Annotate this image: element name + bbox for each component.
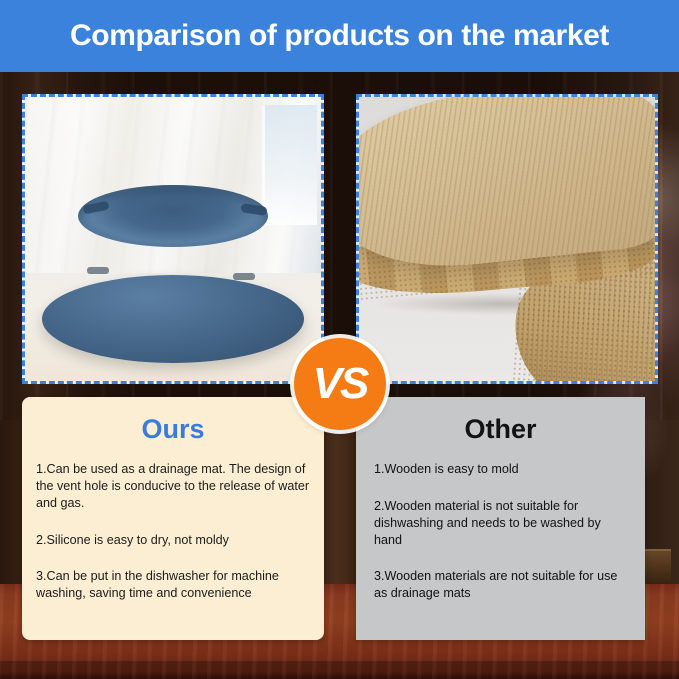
feature-list-other: 1.Wooden is easy to mold 2.Wooden materi…	[370, 461, 631, 601]
comparison-infographic: Comparison of products on the market	[0, 0, 679, 679]
feature-item: 1.Can be used as a drainage mat. The des…	[36, 461, 310, 511]
vs-badge-label: VS	[313, 362, 368, 406]
feature-item: 2.Wooden material is not suitable for di…	[374, 498, 631, 548]
silicone-vent-hole-left	[87, 267, 109, 274]
window-pane	[262, 105, 317, 225]
header-banner: Comparison of products on the market	[0, 0, 679, 72]
card-title-other: Other	[370, 415, 631, 443]
vs-badge: VS	[294, 338, 386, 430]
comparison-card-ours: Ours 1.Can be used as a drainage mat. Th…	[22, 397, 324, 640]
feature-item: 1.Wooden is easy to mold	[374, 461, 631, 478]
comparison-card-other: Other 1.Wooden is easy to mold 2.Wooden …	[356, 397, 645, 640]
silicone-tray-image	[25, 97, 321, 381]
background-table-edge	[0, 661, 679, 679]
product-photo-other	[356, 94, 658, 384]
feature-item: 3.Wooden materials are not suitable for …	[374, 568, 631, 601]
product-photo-ours	[22, 94, 324, 384]
card-title-ours: Ours	[36, 415, 310, 443]
page-title: Comparison of products on the market	[70, 19, 609, 53]
feature-item: 3.Can be put in the dishwasher for machi…	[36, 568, 310, 601]
feature-list-ours: 1.Can be used as a drainage mat. The des…	[36, 461, 310, 601]
feature-item: 2.Silicone is easy to dry, not moldy	[36, 532, 310, 549]
silicone-tray-inner	[93, 197, 253, 243]
bamboo-tray-image	[359, 97, 655, 381]
silicone-vent-hole-right	[233, 273, 255, 280]
